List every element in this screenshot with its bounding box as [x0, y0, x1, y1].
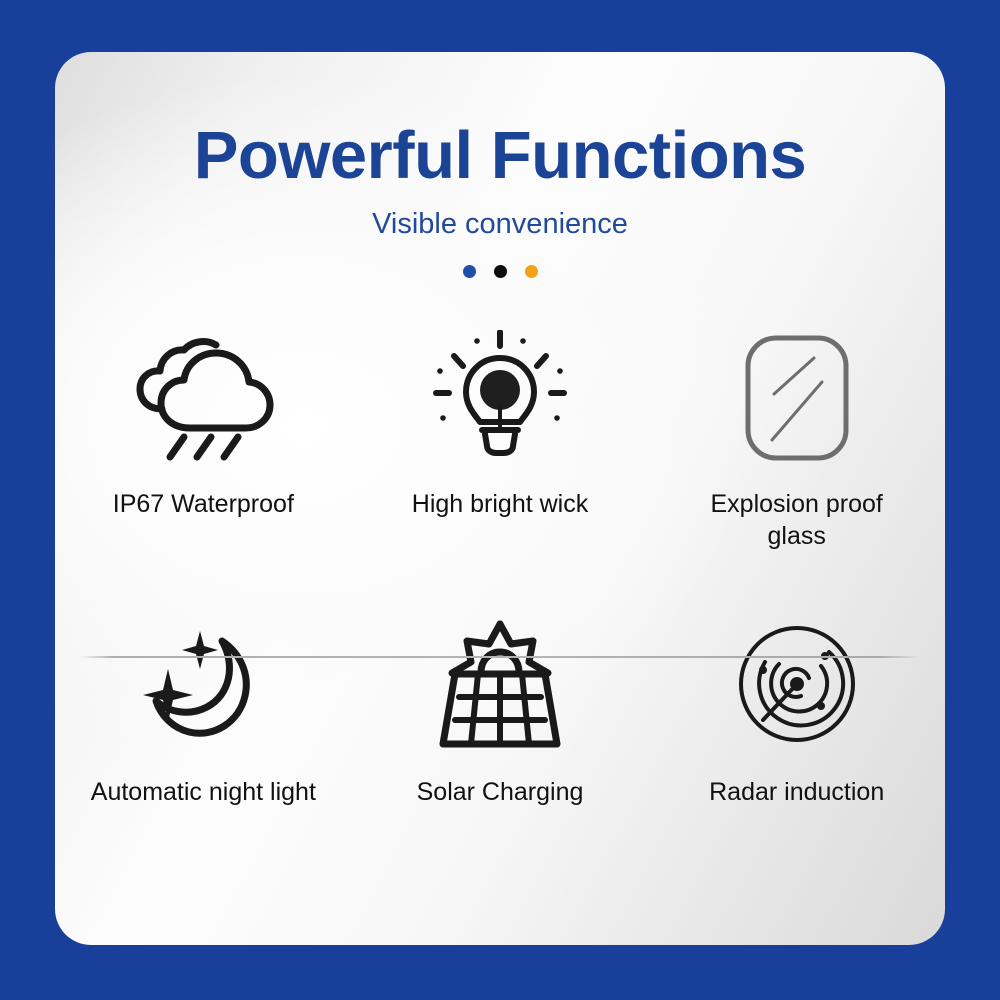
- dot-orange[interactable]: [525, 265, 538, 278]
- feature-item-waterproof[interactable]: IP67 Waterproof: [55, 330, 352, 604]
- feature-label: IP67 Waterproof: [113, 488, 294, 520]
- feature-label: Explosion proof glass: [682, 488, 912, 552]
- content-card: Powerful Functions Visible convenience: [55, 52, 945, 945]
- poster-root: Powerful Functions Visible convenience: [0, 0, 1000, 1000]
- feature-grid: IP67 Waterproof: [55, 330, 945, 874]
- feature-item-solar-charging[interactable]: Solar Charging: [352, 616, 649, 874]
- feature-row-top: IP67 Waterproof: [55, 330, 945, 604]
- dot-blue[interactable]: [463, 265, 476, 278]
- solar-panel-icon: [435, 616, 565, 752]
- header: Powerful Functions Visible convenience: [55, 52, 945, 278]
- feature-label: Radar induction: [709, 776, 884, 808]
- page-title: Powerful Functions: [55, 52, 945, 192]
- page-subtitle: Visible convenience: [55, 192, 945, 241]
- feature-item-explosion-proof-glass[interactable]: Explosion proof glass: [648, 330, 945, 604]
- feature-item-bright-wick[interactable]: High bright wick: [352, 330, 649, 604]
- feature-item-radar-induction[interactable]: Radar induction: [648, 616, 945, 874]
- dot-indicator-group: [55, 265, 945, 278]
- rain-cloud-icon: [128, 330, 278, 466]
- feature-item-night-light[interactable]: Automatic night light: [55, 616, 352, 874]
- moon-stars-icon: [138, 616, 268, 752]
- glass-panel-icon: [736, 330, 858, 466]
- light-bulb-icon: [430, 330, 570, 466]
- dot-black[interactable]: [494, 265, 507, 278]
- section-divider: [80, 656, 920, 658]
- feature-label: High bright wick: [412, 488, 588, 520]
- feature-row-bottom: Automatic night light: [55, 604, 945, 874]
- radar-icon: [735, 616, 859, 752]
- feature-label: Solar Charging: [417, 776, 584, 808]
- feature-label: Automatic night light: [91, 776, 316, 808]
